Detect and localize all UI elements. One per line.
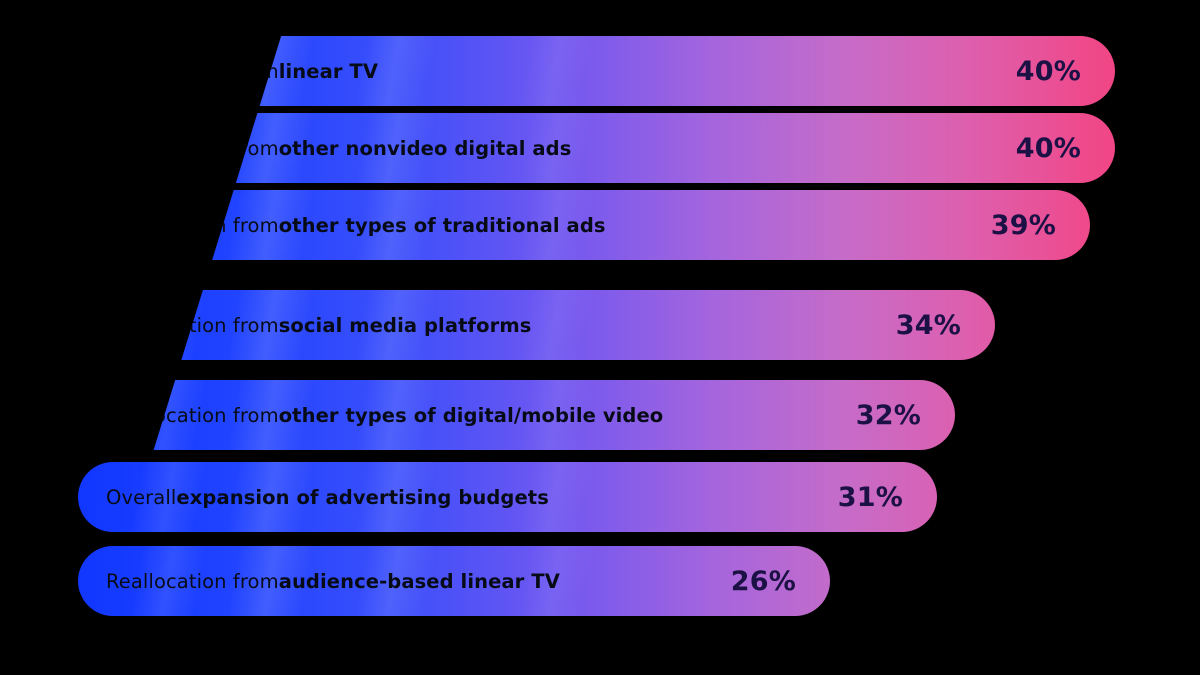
bar-chart: Overall expansion of advertising budgets… bbox=[0, 0, 1200, 675]
bar-value-label: 40% bbox=[1016, 113, 1081, 183]
bar-row[interactable]: Reallocation from other types of digital… bbox=[78, 380, 955, 450]
bar-row[interactable]: Reallocation from social media platforms… bbox=[78, 290, 995, 360]
bar-value-label: 40% bbox=[1016, 36, 1081, 106]
bar-label-emphasis: linear TV bbox=[279, 60, 378, 83]
bar-label-emphasis: other types of digital/mobile video bbox=[279, 404, 664, 427]
bar-category-label: Reallocation from other types of digital… bbox=[106, 380, 663, 450]
bar-label-emphasis: social media platforms bbox=[279, 314, 532, 337]
bar-label-emphasis: other types of traditional ads bbox=[279, 214, 606, 237]
bar-value-label: 32% bbox=[856, 380, 921, 450]
bar-value-label: 34% bbox=[896, 290, 961, 360]
bar-value-label: 39% bbox=[991, 190, 1056, 260]
bar-label-emphasis: other nonvideo digital ads bbox=[279, 137, 572, 160]
